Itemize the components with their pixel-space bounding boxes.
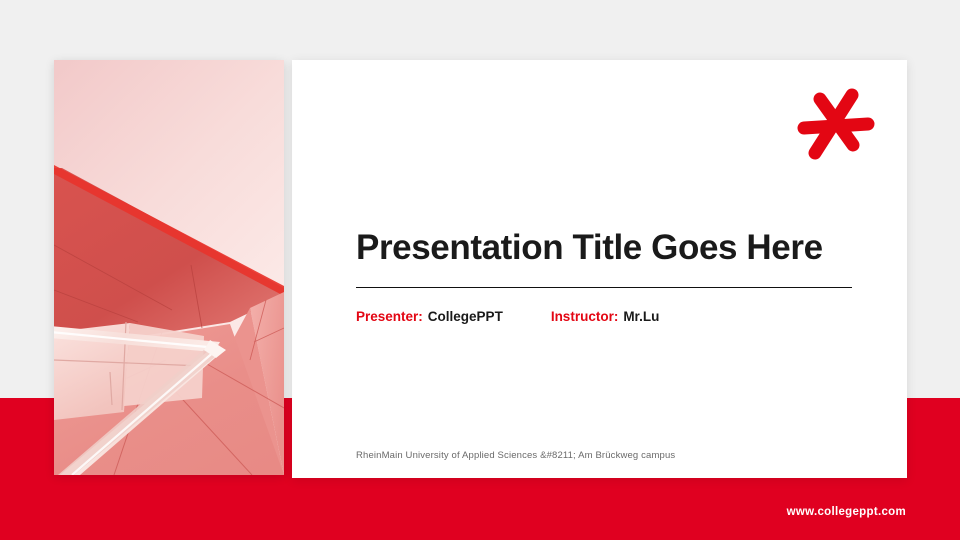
site-url-text: www.collegeppt.com — [787, 506, 906, 518]
slide-canvas: www.collegeppt.com Presentation Title Go… — [0, 0, 960, 540]
page-title: Presentation Title Goes Here — [356, 228, 856, 267]
asterisk-icon — [795, 88, 877, 160]
title-divider — [356, 287, 852, 288]
credit-instructor-label: Instructor: — [551, 309, 619, 324]
architecture-photo — [54, 60, 284, 475]
content-card: Presentation Title Goes Here Presenter: … — [292, 60, 907, 478]
credit-presenter-label: Presenter: — [356, 309, 423, 324]
credit-instructor-value: Mr.Lu — [623, 309, 659, 324]
credit-instructor: Instructor: Mr.Lu — [551, 309, 660, 324]
credit-presenter: Presenter: CollegePPT — [356, 309, 503, 324]
credits-row: Presenter: CollegePPT Instructor: Mr.Lu — [356, 309, 659, 324]
institution-caption: RheinMain University of Applied Sciences… — [356, 450, 675, 461]
credit-presenter-value: CollegePPT — [428, 309, 503, 324]
